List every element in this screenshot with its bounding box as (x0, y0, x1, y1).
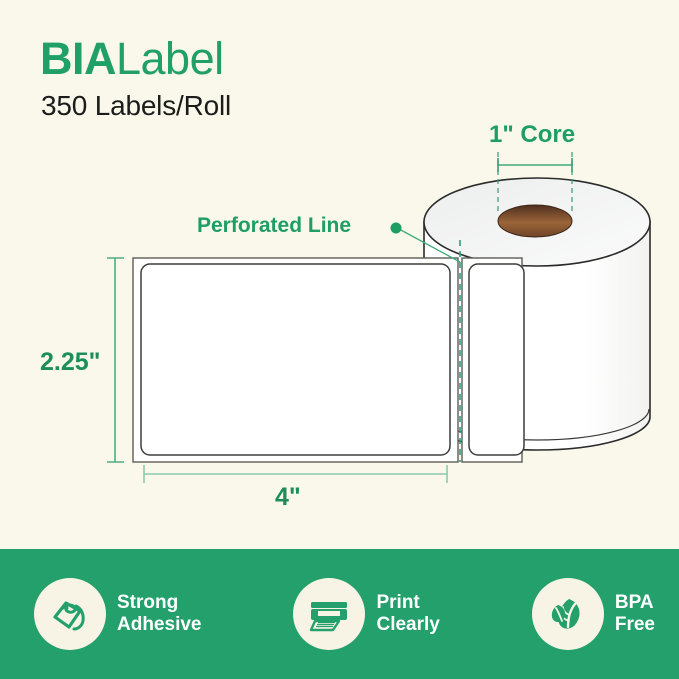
diagram-svg (0, 0, 679, 549)
feature-line-2: Free (615, 614, 655, 636)
width-dimension-indicator (144, 465, 447, 483)
feature-line-1: Print (376, 592, 439, 614)
feature-bpa-free-text: BPA Free (615, 592, 655, 637)
roll-core-hole (498, 205, 572, 237)
peel-label-icon (34, 578, 106, 650)
printer-icon (293, 578, 365, 650)
callout-perforated-line-label: Perforated Line (197, 214, 351, 238)
perforation-leader-dot (391, 223, 402, 234)
feature-print-clearly: Print Clearly (293, 578, 439, 650)
product-diagram: 1" Core Perforated Line 2.25" 4" (0, 0, 679, 549)
label-next-diecut (469, 264, 524, 455)
feature-line-2: Clearly (376, 614, 439, 636)
callout-core-label: 1" Core (489, 121, 575, 149)
feature-bar: Strong Adhesive Print Clearly (0, 549, 679, 679)
dimension-height-label: 2.25" (40, 348, 101, 377)
label-sheet (133, 240, 524, 462)
dimension-width-label: 4" (275, 483, 301, 512)
feature-print-clearly-text: Print Clearly (376, 592, 439, 637)
feature-line-2: Adhesive (117, 614, 201, 636)
label-front-diecut (141, 264, 450, 455)
leaves-icon (532, 578, 604, 650)
feature-strong-adhesive-text: Strong Adhesive (117, 592, 201, 637)
feature-bpa-free: BPA Free (532, 578, 655, 650)
feature-line-1: BPA (615, 592, 655, 614)
product-infographic: BIALabel 350 Labels/Roll (0, 0, 679, 679)
feature-line-1: Strong (117, 592, 201, 614)
height-dimension-indicator (107, 258, 124, 462)
feature-strong-adhesive: Strong Adhesive (34, 578, 201, 650)
